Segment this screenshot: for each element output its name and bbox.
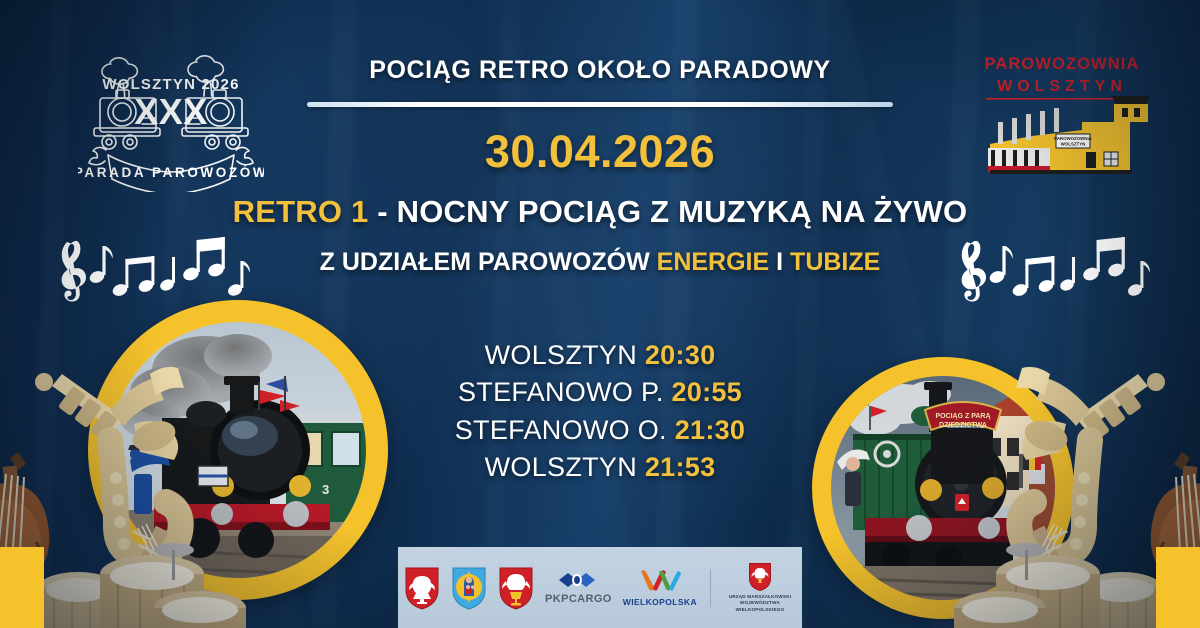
yellow-edge-left [0, 547, 44, 628]
urzad-marszalkowski-logo: URZĄD MARSZAŁKOWSKI WOJEWÓDZTWA WIELKOPO… [724, 562, 796, 614]
train-dash: - [377, 194, 388, 229]
wielkopolska-label: WIELKOPOLSKA [623, 597, 697, 607]
kicker-text: POCIĄG RETRO OKOŁO PARADOWY [0, 56, 1200, 85]
event-date: 30.04.2026 [0, 126, 1200, 178]
station-time: 21:53 [645, 452, 716, 482]
station-time: 20:30 [645, 340, 716, 370]
sponsor-separator [710, 569, 711, 607]
photo-right-inner: POCIĄG Z PARĄ DZIEDZICTWA [831, 376, 1055, 600]
herb-wolsztyn [451, 566, 487, 610]
svg-text:DZIEDZICTWA: DZIEDZICTWA [939, 422, 987, 429]
headline-block: POCIĄG RETRO OKOŁO PARADOWY 30.04.2026 R… [0, 56, 1200, 277]
locomotive-name-2: TUBIZE [790, 248, 880, 276]
steam-locomotive-photo-left: 3 [88, 300, 388, 600]
pkp-cargo-label: PKPCARGO [545, 593, 612, 605]
station-name: WOLSZTYN [485, 452, 637, 482]
locomotive-separator: I [776, 248, 783, 276]
herb-wielkopolski [404, 566, 440, 610]
train-label: RETRO 1 [233, 194, 369, 229]
station-time: 20:55 [671, 377, 742, 407]
wielkopolska-logo: WIELKOPOLSKA [623, 568, 697, 607]
photo-left-inner: 3 [110, 322, 366, 578]
pkp-cargo-mark [555, 570, 601, 590]
sponsor-bar: PKPCARGO WIELKOPOLSKA [398, 547, 802, 628]
pkp-cargo-logo: PKPCARGO [545, 570, 612, 605]
train-title-line: RETRO 1 - NOCNY POCIĄG Z MUZYKĄ NA ŻYWO [0, 194, 1200, 230]
locomotive-name-1: ENERGIE [657, 248, 770, 276]
train-title: NOCNY POCIĄG Z MUZYKĄ NA ŻYWO [397, 194, 968, 229]
divider-line [307, 102, 893, 107]
svg-text:3: 3 [322, 482, 329, 497]
locomotives-prefix: Z UDZIAŁEM PAROWOZÓW [320, 248, 650, 276]
event-poster: WOLSZTYN 2026 XXX PARADA PAROWOZÓW PAROW… [0, 0, 1200, 628]
svg-text:POCIĄG Z PARĄ: POCIĄG Z PARĄ [935, 413, 990, 420]
station-time: 21:30 [675, 415, 746, 445]
station-name: STEFANOWO O. [455, 415, 667, 445]
urzad-herb-icon [748, 562, 772, 591]
yellow-edge-right [1156, 547, 1200, 628]
steam-locomotive-photo-right: POCIĄG Z PARĄ DZIEDZICTWA [812, 357, 1074, 619]
herb-powiat-wolsztynski [498, 566, 534, 610]
locomotives-line: Z UDZIAŁEM PAROWOZÓW ENERGIE I TUBIZE [0, 248, 1200, 277]
wielkopolska-mark [637, 568, 683, 594]
station-name: WOLSZTYN [485, 340, 637, 370]
station-name: STEFANOWO P. [458, 377, 664, 407]
urzad-marszalkowski-label: URZĄD MARSZAŁKOWSKI WOJEWÓDZTWA WIELKOPO… [724, 594, 796, 614]
